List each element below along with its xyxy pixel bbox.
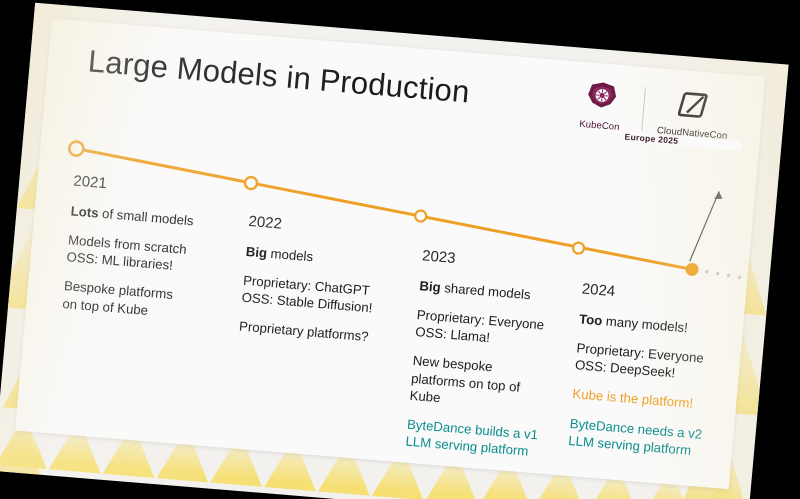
- col-2023-bytedance-note: ByteDance builds a v1 LLM serving platfo…: [405, 416, 582, 465]
- col-2024-headline: Too many models!: [578, 310, 754, 341]
- timeline-trailing-dots: [705, 270, 742, 279]
- timeline-marker-end[interactable]: [685, 262, 699, 276]
- col-2021-headline-bold: Lots: [70, 203, 99, 220]
- timeline-marker-2024[interactable]: [573, 242, 585, 254]
- slide-content-card: Large Models in Production: [15, 18, 765, 489]
- photo-frame: Large Models in Production: [0, 0, 800, 499]
- col-2021-headline-rest: of small models: [98, 206, 194, 229]
- year-label-2021: 2021: [73, 173, 249, 204]
- col-2023-detail-1: Proprietary: Everyone OSS: Llama!: [415, 306, 592, 355]
- col-2023-headline-bold: Big: [419, 278, 442, 295]
- conference-logo-group: KubeCon CloudNativeCon Europe 2025: [560, 77, 742, 169]
- kubecon-helm-icon: [563, 77, 640, 123]
- col-2024-bytedance-note: ByteDance needs a v2 LLM serving platfor…: [568, 415, 745, 464]
- col-2024-kube-callout: Kube is the platform!: [572, 386, 748, 417]
- col-2021-detail-1: Models from scratch OSS: ML libraries!: [66, 231, 243, 280]
- timeline-marker-2023[interactable]: [415, 210, 427, 222]
- col-2024-detail-1: Proprietary: Everyone OSS: DeepSeek!: [574, 339, 751, 388]
- col-2023-detail-2: New bespoke platforms on top of Kube: [409, 352, 588, 418]
- cloudnativecon-diamond-icon: [647, 83, 742, 130]
- col-2022-headline-bold: Big: [245, 244, 268, 261]
- col-2021-headline: Lots of small models: [70, 202, 246, 233]
- timeline-column-2024: 2024 Too many models! Proprietary: Every…: [567, 281, 758, 476]
- col-2023-headline: Big shared models: [419, 277, 595, 308]
- year-label-2022: 2022: [248, 213, 424, 244]
- year-label-2023: 2023: [421, 247, 597, 278]
- presentation-slide: Large Models in Production: [0, 3, 789, 499]
- kubecon-logo: KubeCon: [562, 77, 640, 135]
- page-title: Large Models in Production: [87, 43, 472, 110]
- timeline-column-2022: 2022 Big models Proprietary: ChatGPT OSS…: [237, 213, 423, 361]
- col-2022-headline-rest: models: [266, 246, 313, 265]
- col-2024-headline-bold: Too: [579, 311, 603, 328]
- timeline-marker-2021[interactable]: [69, 141, 84, 156]
- col-2022-detail-2: Proprietary platforms?: [238, 318, 414, 349]
- logo-divider: [641, 87, 646, 131]
- col-2024-headline-rest: many models!: [602, 313, 689, 335]
- slide-surface: Large Models in Production: [0, 3, 789, 499]
- logo-pointer-arrow: [690, 190, 723, 264]
- col-2021-detail-2: Bespoke platforms on top of Kube: [62, 278, 239, 327]
- year-label-2024: 2024: [581, 281, 757, 312]
- col-2023-headline-rest: shared models: [440, 280, 531, 302]
- col-2022-detail-1: Proprietary: ChatGPT OSS: Stable Diffusi…: [241, 272, 418, 321]
- timeline-column-2021: 2021 Lots of small models Models from sc…: [61, 173, 249, 339]
- col-2022-headline: Big models: [245, 243, 421, 274]
